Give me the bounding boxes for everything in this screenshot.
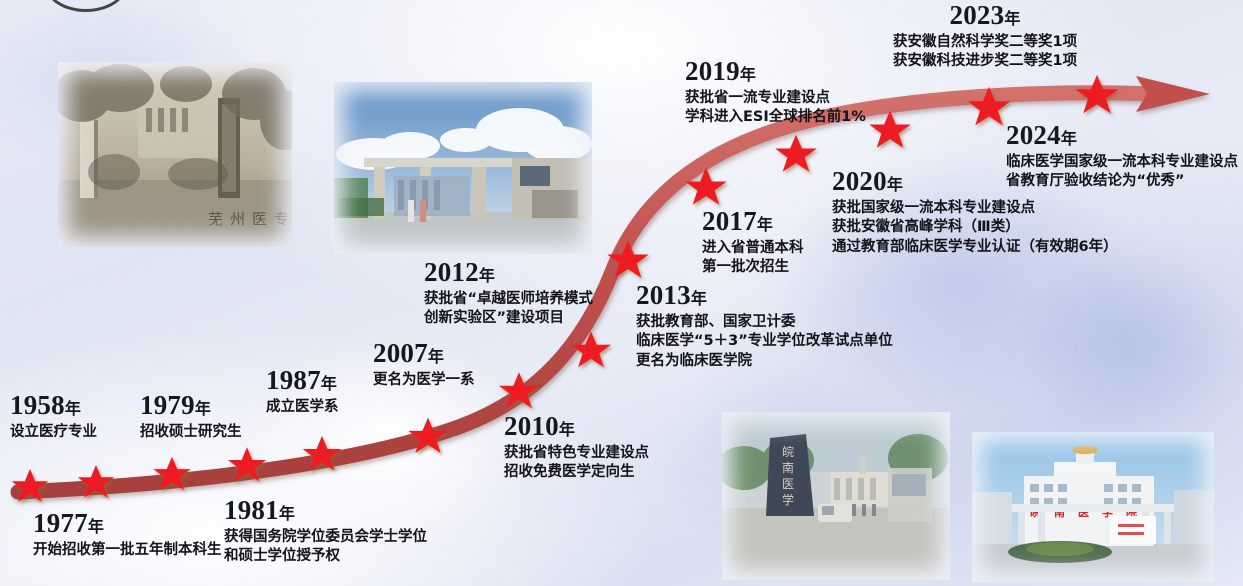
event-year: 1958年: [10, 392, 97, 419]
event-desc: 招收硕士研究生: [140, 423, 242, 442]
event-1979: 1979年 招收硕士研究生: [140, 392, 242, 442]
event-year: 1977年: [33, 510, 222, 537]
event-desc: 获批省一流专业建设点 学科进入ESI全球排名前1%: [685, 89, 866, 128]
event-year: 1987年: [266, 367, 339, 394]
event-year: 2023年: [893, 2, 1077, 29]
event-2023: 2023年 获安徽自然科学奖二等奖1项 获安徽科技进步奖二等奖1项: [893, 2, 1077, 72]
event-year: 1981年: [224, 497, 427, 524]
event-desc: 获得国务院学位委员会学士学位 和硕士学位授予权: [224, 528, 427, 567]
event-2013: 2013年 获批教育部、国家卫计委 临床医学“5＋3”专业学位改革试点单位 更名…: [636, 282, 893, 371]
event-desc: 设立医疗专业: [10, 423, 97, 442]
event-desc: 获批教育部、国家卫计委 临床医学“5＋3”专业学位改革试点单位 更名为临床医学院: [636, 313, 893, 371]
event-desc: 获安徽自然科学奖二等奖1项 获安徽科技进步奖二等奖1项: [893, 33, 1077, 72]
event-2019: 2019年 获批省一流专业建设点 学科进入ESI全球排名前1%: [685, 58, 866, 128]
event-desc: 进入省普通本科 第一批次招生: [702, 239, 804, 278]
event-desc: 更名为医学一系: [373, 371, 475, 390]
event-2024: 2024年 临床医学国家级一流本科专业建设点 省教育厅验收结论为“优秀”: [1006, 122, 1238, 192]
event-desc: 临床医学国家级一流本科专业建设点 省教育厅验收结论为“优秀”: [1006, 153, 1238, 192]
event-1977: 1977年 开始招收第一批五年制本科生: [33, 510, 222, 560]
event-year: 2024年: [1006, 122, 1238, 149]
event-year: 1979年: [140, 392, 242, 419]
event-year: 2017年: [702, 208, 804, 235]
event-2017: 2017年 进入省普通本科 第一批次招生: [702, 208, 804, 278]
event-1987: 1987年 成立医学系: [266, 367, 339, 417]
event-2010: 2010年 获批省特色专业建设点 招收免费医学定向生: [504, 413, 649, 483]
timeline-star: [775, 135, 817, 172]
event-desc: 成立医学系: [266, 398, 339, 417]
event-2012: 2012年 获批省“卓越医师培养模式 创新实验区”建设项目: [424, 259, 593, 329]
event-year: 2010年: [504, 413, 649, 440]
event-year: 2013年: [636, 282, 893, 309]
timeline-infographic: 芜州医专: [0, 0, 1243, 586]
event-year: 2019年: [685, 58, 866, 85]
event-desc: 开始招收第一批五年制本科生: [33, 541, 222, 560]
event-1958: 1958年 设立医疗专业: [10, 392, 97, 442]
event-1981: 1981年 获得国务院学位委员会学士学位 和硕士学位授予权: [224, 497, 427, 567]
event-2007: 2007年 更名为医学一系: [373, 340, 475, 390]
event-desc: 获批省特色专业建设点 招收免费医学定向生: [504, 444, 649, 483]
event-year: 2012年: [424, 259, 593, 286]
timeline-curve: [0, 0, 1243, 586]
event-desc: 获批省“卓越医师培养模式 创新实验区”建设项目: [424, 290, 593, 329]
event-year: 2007年: [373, 340, 475, 367]
timeline-star: [869, 111, 911, 148]
event-desc: 获批国家级一流本科专业建设点 获批安徽省高峰学科（Ⅲ类） 通过教育部临床医学专业…: [832, 199, 1118, 257]
